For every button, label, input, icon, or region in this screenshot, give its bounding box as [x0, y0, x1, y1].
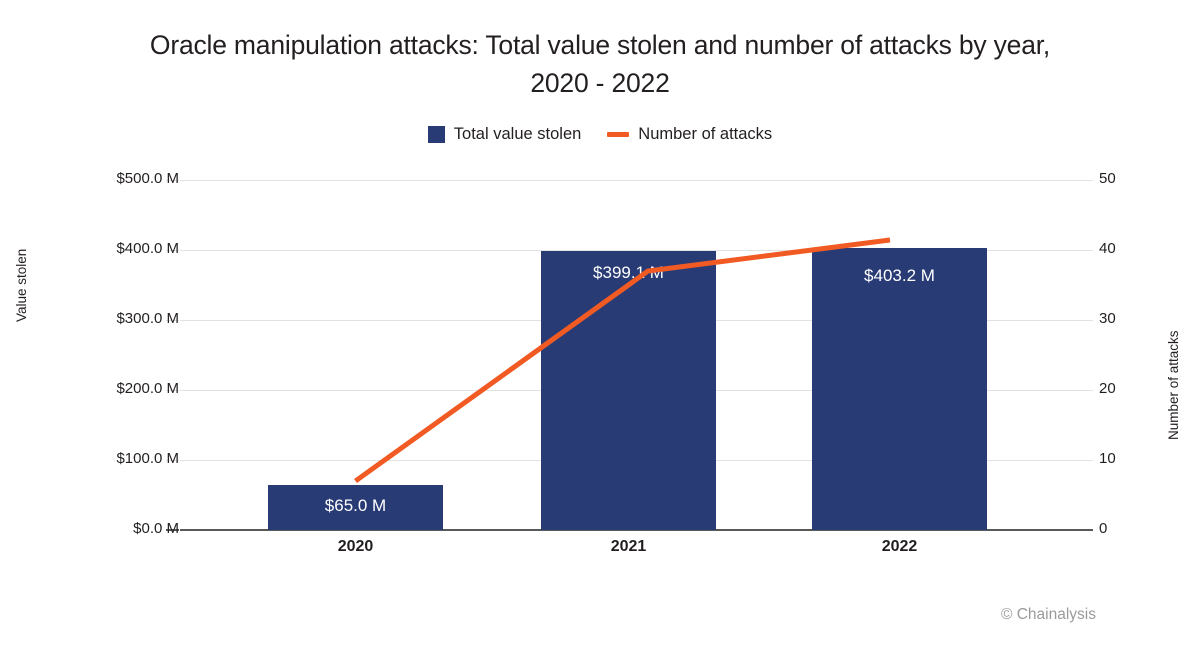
legend-item-number-of-attacks[interactable]: Number of attacks [607, 125, 772, 144]
right-tick-mark-30 [1080, 320, 1093, 321]
left-tick-label-200: $200.0 M [116, 380, 179, 397]
chart-container: Oracle manipulation attacks: Total value… [0, 0, 1200, 654]
legend-item-total-value-stolen[interactable]: Total value stolen [428, 125, 582, 144]
legend-label-number-of-attacks: Number of attacks [638, 125, 772, 144]
right-tick-label-30: 30 [1099, 310, 1116, 327]
legend-label-total-value-stolen: Total value stolen [454, 125, 582, 144]
right-tick-mark-0 [1080, 529, 1093, 531]
right-axis-title: Number of attacks [1166, 330, 1181, 440]
right-tick-label-20: 20 [1099, 380, 1116, 397]
plot-area: $65.0 M $399.1 M $403.2 M [180, 180, 1080, 530]
right-tick-mark-50 [1080, 180, 1093, 181]
left-tick-label-300: $300.0 M [116, 310, 179, 327]
gridline-500 [180, 180, 1080, 181]
bar-label-2022: $403.2 M [812, 266, 987, 286]
chainalysis-credit: © Chainalysis [1001, 606, 1096, 624]
right-tick-mark-40 [1080, 250, 1093, 251]
right-tick-label-0: 0 [1099, 520, 1107, 537]
x-tick-label-2022: 2022 [812, 538, 987, 556]
bar-2021[interactable] [541, 251, 716, 530]
chart-title: Oracle manipulation attacks: Total value… [50, 26, 1150, 102]
right-tick-mark-10 [1080, 460, 1093, 461]
left-tick-label-0: $0.0 M [133, 520, 179, 537]
square-swatch-icon [428, 126, 445, 143]
right-tick-label-50: 50 [1099, 170, 1116, 187]
chart-title-line-1: Oracle manipulation attacks: Total value… [150, 30, 1050, 60]
left-tick-label-100: $100.0 M [116, 450, 179, 467]
bar-label-2021: $399.1 M [541, 263, 716, 283]
x-tick-label-2021: 2021 [541, 538, 716, 556]
right-tick-label-40: 40 [1099, 240, 1116, 257]
left-axis-title: Value stolen [14, 249, 29, 322]
x-tick-label-2020: 2020 [268, 538, 443, 556]
bar-label-2020: $65.0 M [268, 496, 443, 516]
line-swatch-icon [607, 132, 629, 138]
chart-title-line-2: 2020 - 2022 [530, 68, 669, 98]
right-tick-label-10: 10 [1099, 450, 1116, 467]
right-tick-mark-20 [1080, 390, 1093, 391]
chart-legend: Total value stolen Number of attacks [0, 125, 1200, 144]
bar-2022[interactable] [812, 248, 987, 530]
left-tick-label-400: $400.0 M [116, 240, 179, 257]
left-tick-label-500: $500.0 M [116, 170, 179, 187]
